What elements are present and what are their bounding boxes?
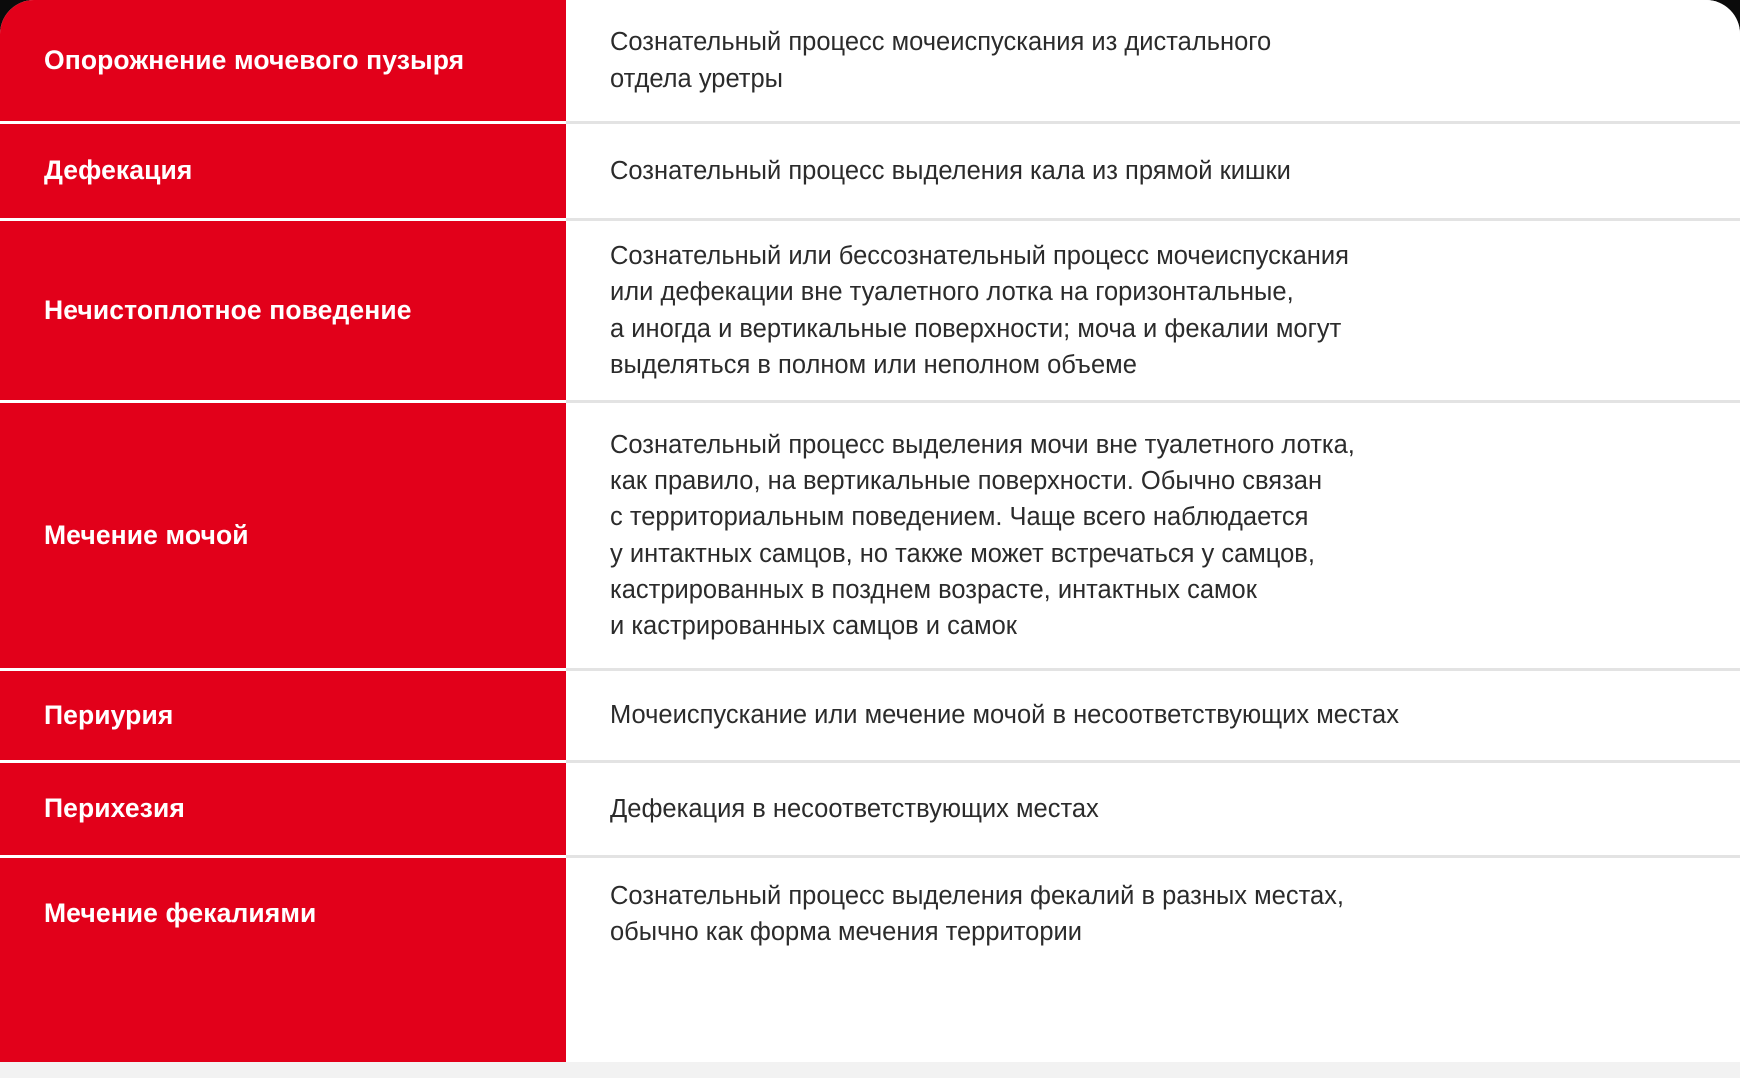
definition-cell: Сознательный процесс мочеиспускания из д… <box>566 0 1740 121</box>
term-cell: Мечение фекалиями <box>0 855 566 970</box>
definition-text: Мочеиспускание или мечение мочой в несоо… <box>610 697 1399 733</box>
term-cell: Перихезия <box>0 760 566 855</box>
term-label: Нечистоплотное поведение <box>44 295 412 327</box>
table-row: Мечение мочой Сознательный процесс выдел… <box>0 400 1740 668</box>
definition-text: Сознательный процесс мочеиспускания из д… <box>610 24 1271 96</box>
terminology-table-card: Опорожнение мочевого пузыря Сознательный… <box>0 0 1740 1078</box>
definition-cell: Дефекация в несоответствующих местах <box>566 760 1740 855</box>
term-label: Перихезия <box>44 793 185 825</box>
term-label: Мечение фекалиями <box>44 898 316 930</box>
definition-text: Сознательный процесс выделения фекалий в… <box>610 878 1344 950</box>
table-row: Мечение фекалиями Сознательный процесс в… <box>0 855 1740 970</box>
term-cell: Нечистоплотное поведение <box>0 218 566 400</box>
term-cell: Периурия <box>0 668 566 760</box>
definition-text: Сознательный или бессознательный процесс… <box>610 238 1349 383</box>
table-row: Перихезия Дефекация в несоответствующих … <box>0 760 1740 855</box>
term-label: Опорожнение мочевого пузыря <box>44 45 464 77</box>
term-label: Периурия <box>44 700 173 732</box>
definition-cell: Сознательный процесс выделения кала из п… <box>566 121 1740 218</box>
definition-cell: Сознательный процесс выделения мочи вне … <box>566 400 1740 668</box>
definition-cell: Сознательный процесс выделения фекалий в… <box>566 855 1740 970</box>
terminology-table: Опорожнение мочевого пузыря Сознательный… <box>0 0 1740 1078</box>
definition-text: Сознательный процесс выделения кала из п… <box>610 153 1291 189</box>
definition-text: Дефекация в несоответствующих местах <box>610 791 1099 827</box>
definition-text: Сознательный процесс выделения мочи вне … <box>610 427 1355 644</box>
definition-cell: Мочеиспускание или мечение мочой в несоо… <box>566 668 1740 760</box>
definition-cell: Сознательный или бессознательный процесс… <box>566 218 1740 400</box>
table-row: Дефекация Сознательный процесс выделения… <box>0 121 1740 218</box>
table-row: Нечистоплотное поведение Сознательный ил… <box>0 218 1740 400</box>
term-label: Дефекация <box>44 155 192 187</box>
page-footer-strip <box>0 1062 1740 1078</box>
table-row: Периурия Мочеиспускание или мечение мочо… <box>0 668 1740 760</box>
term-label: Мечение мочой <box>44 520 249 552</box>
term-cell: Дефекация <box>0 121 566 218</box>
term-cell: Мечение мочой <box>0 400 566 668</box>
table-row: Опорожнение мочевого пузыря Сознательный… <box>0 0 1740 121</box>
term-cell: Опорожнение мочевого пузыря <box>0 0 566 121</box>
